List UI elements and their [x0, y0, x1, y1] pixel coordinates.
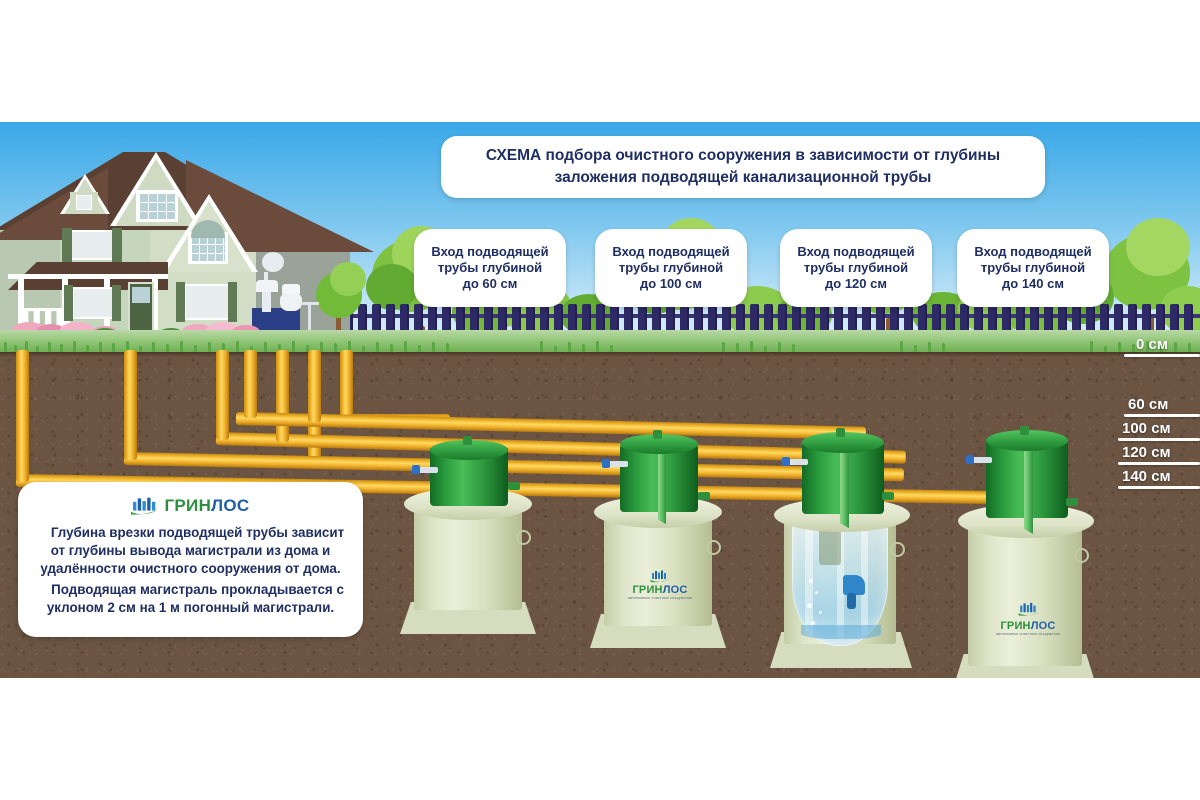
callout-60-line-3: до 60 см	[463, 276, 518, 292]
depth-label-60: 60 см	[1128, 396, 1168, 413]
callout-100-line-3: до 100 см	[640, 276, 702, 292]
logo-tagline: автономные очистные сооружения	[988, 632, 1068, 636]
title-line-2: заложения подводящей канализационной тру…	[555, 167, 932, 189]
callout-140-line-1: Вход подводящей	[974, 244, 1091, 260]
tank-logo: ГРИНЛОС автономные очистные сооружения	[988, 620, 1068, 636]
tap-knob	[966, 455, 974, 464]
callout-140: Вход подводящей трубы глубиной до 140 см	[957, 229, 1109, 307]
greenlos-logo-icon	[131, 494, 158, 519]
callout-100: Вход подводящей трубы глубиной до 100 см	[595, 229, 747, 307]
infographic-canvas: ГРИНЛОС автономные очистные сооружения	[0, 0, 1200, 800]
brand-logo: ГРИНЛОС	[32, 491, 349, 521]
logo-tagline: автономные очистные сооружения	[620, 596, 700, 600]
logo-green-text: ГРИН	[632, 584, 662, 596]
treatment-unit-120[interactable]	[768, 302, 918, 678]
house-illustration	[0, 122, 360, 362]
side-vent	[1066, 498, 1078, 506]
lift-handle	[890, 542, 905, 557]
info-paragraph-2: Подводящая магистраль прокладывается с у…	[32, 581, 349, 617]
logo-blue-text: ЛОС	[663, 584, 688, 596]
callout-120: Вход подводящей трубы глубиной до 120 см	[780, 229, 932, 307]
title-banner: СХЕМА подбора очистного сооружения в зав…	[441, 136, 1045, 198]
riser-fin	[1024, 448, 1033, 534]
aerator-pump-icon	[843, 575, 865, 595]
tap-knob	[602, 459, 610, 468]
title-line-1: СХЕМА подбора очистного сооружения в зав…	[486, 145, 1000, 167]
depth-label-120: 120 см	[1122, 444, 1171, 461]
callout-60-line-2: трубы глубиной	[438, 260, 542, 276]
vent-cap	[836, 428, 845, 437]
riser-fin	[658, 452, 666, 524]
depth-label-140: 140 см	[1122, 468, 1171, 485]
treatment-unit-60[interactable]	[398, 302, 538, 678]
callout-60: Вход подводящей трубы глубиной до 60 см	[414, 229, 566, 307]
side-vent	[508, 482, 520, 490]
treatment-unit-140[interactable]: ГРИНЛОС автономные очистные сооружения	[950, 302, 1100, 678]
logo-blue-text: ЛОС	[1031, 620, 1056, 632]
lift-handle	[706, 540, 721, 555]
logo-mark-icon	[650, 570, 670, 584]
tank-logo: ГРИНЛОС автономные очистные сооружения	[620, 584, 700, 600]
riser-fin	[840, 450, 849, 528]
callout-120-line-1: Вход подводящей	[797, 244, 914, 260]
callout-120-line-2: трубы глубиной	[804, 260, 908, 276]
info-card: ГРИНЛОС Глубина врезки подводящей трубы …	[18, 482, 363, 637]
callout-100-line-2: трубы глубиной	[619, 260, 723, 276]
logo-mark-icon	[1018, 602, 1040, 618]
callout-120-line-3: до 120 см	[825, 276, 887, 292]
depth-line-100	[1118, 438, 1200, 441]
logo-green-text: ГРИН	[1000, 620, 1030, 632]
depth-line-60	[1124, 414, 1200, 417]
callout-60-line-1: Вход подводящей	[431, 244, 548, 260]
vent-cap	[463, 436, 472, 445]
callout-140-line-2: трубы глубиной	[981, 260, 1085, 276]
treatment-unit-100[interactable]: ГРИНЛОС автономные очистные сооружения	[588, 302, 728, 678]
pipe-drop-1	[244, 350, 257, 413]
side-vent	[882, 492, 894, 500]
brand-blue-text: ЛОС	[211, 496, 249, 515]
tap-knob	[782, 457, 790, 466]
callout-100-line-1: Вход подводящей	[612, 244, 729, 260]
vent-cap	[653, 430, 662, 439]
callout-140-line-3: до 140 см	[1002, 276, 1064, 292]
vent-cap	[1020, 426, 1029, 435]
tap-knob	[412, 465, 420, 474]
brand-green-text: ГРИН	[164, 496, 211, 515]
lift-handle	[516, 530, 531, 545]
tank-cutaway-glass	[792, 516, 888, 646]
depth-line-140	[1118, 486, 1200, 489]
lift-handle	[1074, 548, 1089, 563]
depth-label-0: 0 см	[1136, 336, 1168, 353]
depth-line-0	[1124, 354, 1200, 357]
depth-label-100: 100 см	[1122, 420, 1171, 437]
tank-body	[968, 518, 1082, 666]
info-paragraph-1: Глубина врезки подводящей трубы зависит …	[32, 524, 349, 578]
side-vent	[698, 492, 710, 500]
depth-line-120	[1118, 462, 1200, 465]
brand-wordmark: ГРИНЛОС	[164, 496, 249, 516]
